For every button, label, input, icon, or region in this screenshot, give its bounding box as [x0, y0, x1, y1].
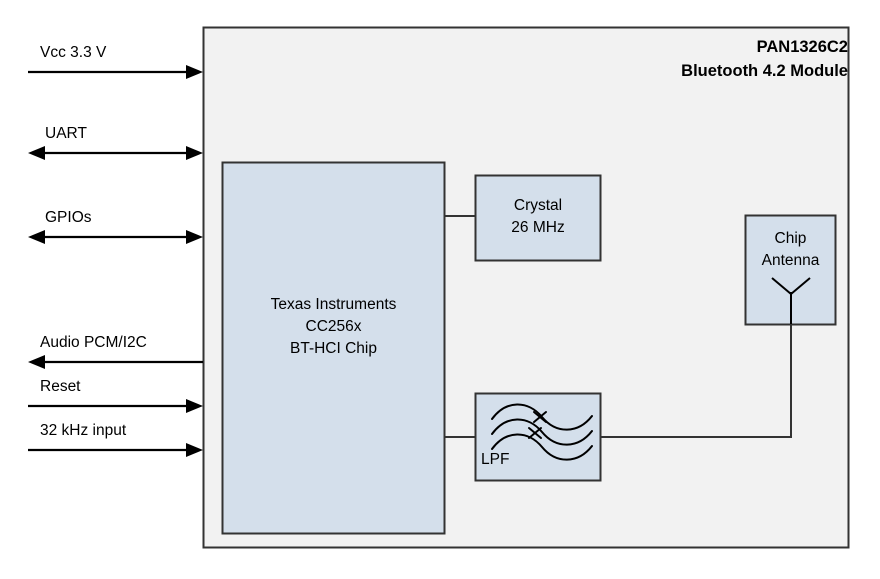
antenna-line-2: Antenna — [741, 250, 840, 272]
chip-line-3: BT-HCI Chip — [222, 338, 445, 360]
module-title: PAN1326C2 Bluetooth 4.2 Module — [681, 36, 848, 84]
signal-label-uart: UART — [45, 125, 87, 143]
antenna-line-1: Chip — [741, 228, 840, 250]
signal-arrow-reset — [28, 399, 203, 413]
signal-arrow-32khz — [28, 443, 203, 457]
signal-label-vcc: Vcc 3.3 V — [40, 44, 106, 62]
block-label-crystal: Crystal 26 MHz — [475, 195, 601, 239]
chip-line-2: CC256x — [222, 316, 445, 338]
crystal-line-1: Crystal — [475, 195, 601, 217]
module-title-line-1: PAN1326C2 — [681, 36, 848, 60]
signal-label-reset: Reset — [40, 378, 81, 396]
signal-label-audio-pcm-i2c: Audio PCM/I2C — [40, 334, 147, 352]
block-label-lpf: LPF — [481, 451, 509, 469]
module-title-line-2: Bluetooth 4.2 Module — [681, 60, 848, 84]
crystal-line-2: 26 MHz — [475, 217, 601, 239]
block-diagram: PAN1326C2 Bluetooth 4.2 Module Vcc 3.3 V… — [0, 0, 880, 579]
block-label-ti-cc256x: Texas Instruments CC256x BT-HCI Chip — [222, 294, 445, 360]
signal-arrow-audio-pcm-i2c — [28, 355, 203, 369]
block-label-chip-antenna: Chip Antenna — [741, 228, 840, 272]
signal-arrow-vcc — [28, 65, 203, 79]
signal-label-32khz: 32 kHz input — [40, 422, 126, 440]
signal-arrow-gpios — [28, 230, 203, 244]
diagram-canvas — [0, 0, 880, 579]
chip-line-1: Texas Instruments — [222, 294, 445, 316]
signal-label-gpios: GPIOs — [45, 209, 92, 227]
signal-arrow-uart — [28, 146, 203, 160]
